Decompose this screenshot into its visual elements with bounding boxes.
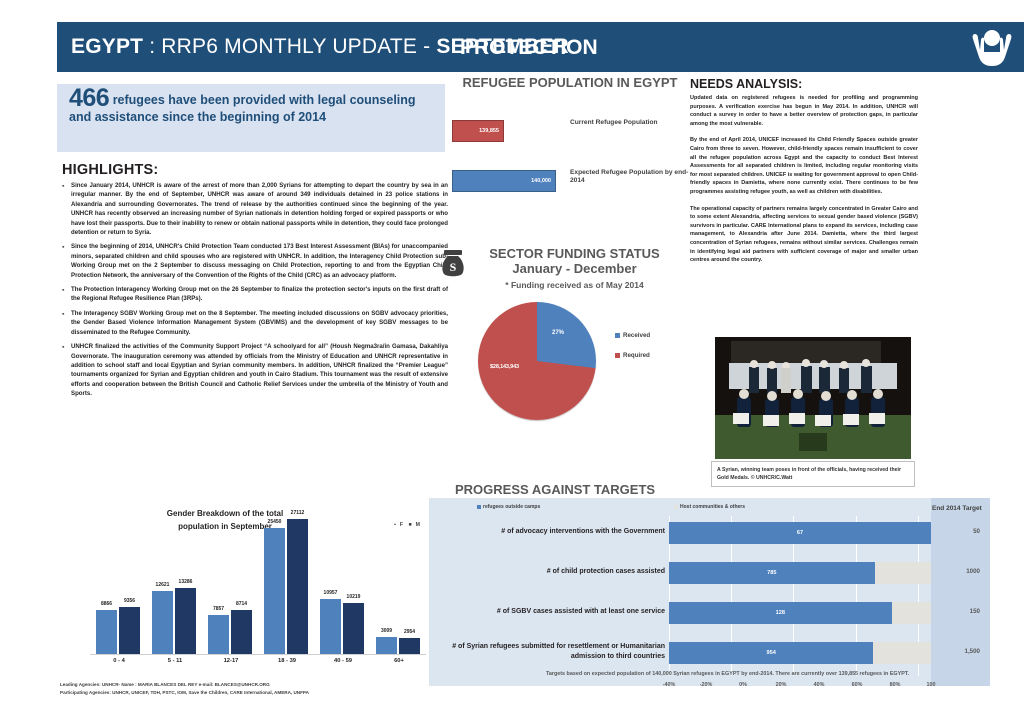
xaxis-tick: 0%	[739, 682, 747, 688]
legend-swatch-required	[615, 353, 620, 358]
row-value-label: 128	[776, 610, 785, 616]
bar-group-5-11: 12621 13286	[152, 514, 196, 654]
row-label: # of advocacy interventions with the Gov…	[437, 527, 665, 537]
bar-male: 2954	[399, 638, 420, 654]
award-ceremony-photo	[715, 337, 911, 459]
legend-swatch-host	[674, 505, 678, 509]
xaxis-tick: 20%	[776, 682, 787, 688]
legend-item-host: Host communities & others	[674, 504, 745, 510]
list-item: ▪ The Protection Interagency Working Gro…	[62, 285, 448, 304]
legend-item-required: Required	[615, 352, 650, 359]
bar-value-label: 7857	[213, 606, 224, 612]
highlights-list: ▪ Since January 2014, UNHCR is aware of …	[62, 181, 448, 404]
pie-slice-label-received: 27%	[552, 330, 564, 336]
bullet-icon: ▪	[62, 285, 71, 304]
highlight-text: Since the beginning of 2014, UNHCR's Chi…	[71, 242, 448, 280]
bullet-icon: ▪	[62, 309, 71, 337]
row-target-value: 150	[970, 608, 980, 615]
list-item: ▪ The Interagency SGBV Working Group met…	[62, 309, 448, 337]
bar-category-label: Expected Refugee Population by end-2014	[570, 169, 690, 186]
key-figure-number: 466	[69, 84, 109, 112]
bar-value-label: 12621	[156, 582, 170, 588]
xaxis-label: 5 - 11	[152, 658, 198, 664]
bar-female: 25450	[264, 528, 285, 654]
row-label: # of Syrian refugees submitted for reset…	[437, 642, 665, 662]
xaxis-tick: -40%	[663, 682, 676, 688]
sector-funding-title: SECTOR FUNDING STATUS January - December…	[452, 246, 697, 293]
photo-caption: A Syrian, winning team poses in front of…	[711, 461, 915, 487]
bar-value-label: 8714	[236, 601, 247, 607]
row-value-label: 67	[797, 530, 803, 536]
xaxis-tick: 60%	[852, 682, 863, 688]
population-row-current: 139,855 Current Refugee Population	[452, 120, 692, 146]
bar-male: 27112	[287, 519, 308, 654]
bar-value-label: 9356	[124, 598, 135, 604]
progress-xaxis: -40% -20% 0% 20% 40% 60% 80% 100	[669, 682, 931, 692]
xaxis-tick: 100	[927, 682, 936, 688]
bar-value-label: 25450	[268, 519, 282, 525]
footer-participating-agencies: Participating Agencies: UNHCR, UNICEF, T…	[60, 689, 480, 697]
legend-item-received: Received	[615, 332, 650, 339]
key-figure-caption: refugees have been provided with legal c…	[69, 93, 416, 124]
xaxis-label: 18 - 39	[264, 658, 310, 664]
bar-value-label: 139,855	[479, 128, 499, 134]
row-target-value: 50	[973, 528, 980, 535]
bar-female: 3009	[376, 637, 397, 654]
bullet-icon: ▪	[62, 242, 71, 280]
legend-swatch-refugees	[477, 505, 481, 509]
progress-targets-title: PROGRESS AGAINST TARGETS	[455, 482, 655, 497]
refugee-population-title: REFUGEE POPULATION IN EGYPT	[455, 75, 685, 90]
row-label: # of child protection cases assisted	[437, 567, 665, 577]
bar-value-label: 13286	[179, 579, 193, 585]
row-track: 785	[669, 562, 931, 584]
bar-male: 8714	[231, 610, 252, 654]
xaxis-label: 40 - 59	[320, 658, 366, 664]
needs-paragraph: Updated data on registered refugees is n…	[690, 94, 918, 128]
needs-paragraph: The operational capacity of partners rem…	[690, 205, 918, 265]
table-row: # of SGBV cases assisted with at least o…	[429, 598, 990, 638]
header-sector: PROTECTION	[460, 36, 598, 60]
row-value-label: 954	[767, 650, 776, 656]
header-separator: :	[143, 35, 161, 58]
bar-female: 12621	[152, 591, 173, 654]
bar-male: 10219	[343, 603, 364, 654]
page-header: EGYPT : RRP6 MONTHLY UPDATE - SEPTEMBER …	[57, 22, 1024, 72]
key-figure-panel: 466 refugees have been provided with leg…	[57, 84, 445, 152]
highlight-text: The Interagency SGBV Working Group met o…	[71, 309, 448, 337]
bar-value-label: 8866	[101, 601, 112, 607]
xaxis-tick: 80%	[890, 682, 901, 688]
highlights-title: HIGHLIGHTS:	[62, 162, 158, 178]
highlight-text: UNHCR finalized the activities of the Co…	[71, 342, 448, 398]
funding-pie-chart: 27% $28,143,943	[478, 302, 600, 424]
legend-label-refugees: refugees outside camps	[483, 504, 540, 510]
pie-graphic	[478, 302, 596, 420]
bar-female: 7857	[208, 615, 229, 654]
bar-group-12-17: 7857 8714	[208, 514, 252, 654]
row-track: 67	[669, 522, 931, 544]
gender-chart-plot: 8866 9356 12621 13286 7857 8714 25450 27…	[90, 514, 426, 655]
funding-subtitle-text: January - December	[512, 261, 636, 276]
bullet-icon: ▪	[62, 181, 71, 237]
row-label: # of SGBV cases assisted with at least o…	[437, 607, 665, 617]
bar-male: 13286	[175, 588, 196, 654]
xaxis-tick: -20%	[700, 682, 713, 688]
legend-item-refugees: refugees outside camps	[477, 504, 540, 510]
xaxis-label: 12-17	[208, 658, 254, 664]
progress-legend: refugees outside camps Host communities …	[429, 504, 931, 514]
header-country: EGYPT	[71, 35, 143, 58]
bar-value-label: 10219	[347, 594, 361, 600]
bar-value-label: 3009	[381, 628, 392, 634]
bar-group-0-4: 8866 9356	[96, 514, 140, 654]
bar-category-label: Current Refugee Population	[570, 119, 690, 127]
footer: Leading Agencies: UNHCR- Name : MARIA BL…	[60, 681, 480, 697]
bar-group-18-39: 25450 27112	[264, 514, 308, 654]
row-fill: 785	[669, 562, 875, 584]
bar-value-label: 27112	[291, 510, 305, 516]
xaxis-label: 60+	[376, 658, 422, 664]
gender-breakdown-chart: Gender Breakdown of the total population…	[64, 500, 434, 678]
bar-group-60plus: 3009 2954	[376, 514, 420, 654]
row-track: 128	[669, 602, 931, 624]
needs-analysis-body: Updated data on registered refugees is n…	[690, 94, 918, 273]
pie-legend: Received Required	[615, 332, 650, 372]
target-column-header: End 2014 Target	[932, 504, 982, 513]
needs-analysis-title: NEEDS ANALYSIS:	[690, 77, 802, 91]
highlight-text: The Protection Interagency Working Group…	[71, 285, 448, 304]
highlight-text: Since January 2014, UNHCR is aware of th…	[71, 181, 448, 237]
legend-label-required: Required	[623, 352, 650, 359]
bullet-icon: ▪	[62, 342, 71, 398]
table-row: # of advocacy interventions with the Gov…	[429, 518, 990, 558]
row-fill: 67	[669, 522, 931, 544]
row-value-label: 785	[767, 570, 776, 576]
bar-current-population: 139,855	[452, 120, 504, 142]
legend-label-host: Host communities & others	[680, 504, 745, 510]
bar-male: 9356	[119, 607, 140, 654]
progress-targets-note: Targets based on expected population of …	[455, 671, 1000, 677]
bar-female: 10957	[320, 599, 341, 654]
gender-chart-xaxis: 0 - 4 5 - 11 12-17 18 - 39 40 - 59 60+	[90, 658, 426, 670]
header-report: RRP6 MONTHLY UPDATE -	[161, 35, 436, 58]
bar-value-label: 10957	[324, 590, 338, 596]
population-row-expected: 140,000 Expected Refugee Population by e…	[452, 170, 692, 196]
legend-label-received: Received	[623, 332, 650, 339]
row-track: 954	[669, 642, 931, 664]
photo-graphic	[715, 337, 911, 459]
progress-rows: # of advocacy interventions with the Gov…	[429, 518, 990, 678]
bar-expected-population: 140,000	[452, 170, 556, 192]
needs-paragraph: By the end of April 2014, UNICEF increas…	[690, 136, 918, 196]
progress-targets-panel: End 2014 Target refugees outside camps H…	[429, 498, 990, 686]
row-target-value: 1000	[966, 568, 980, 575]
row-fill: 954	[669, 642, 873, 664]
footer-leading-agencies: Leading Agencies: UNHCR- Name : MARIA BL…	[60, 681, 480, 689]
xaxis-tick: 40%	[814, 682, 825, 688]
key-figure-text: 466 refugees have been provided with leg…	[57, 84, 445, 126]
xaxis-label: 0 - 4	[96, 658, 142, 664]
list-item: ▪ Since the beginning of 2014, UNHCR's C…	[62, 242, 448, 280]
list-item: ▪ Since January 2014, UNHCR is aware of …	[62, 181, 448, 237]
refugee-population-chart: 139,855 Current Refugee Population 140,0…	[452, 120, 692, 202]
unhcr-hands-logo-icon	[970, 26, 1014, 68]
infographic-page: EGYPT : RRP6 MONTHLY UPDATE - SEPTEMBER …	[0, 0, 1024, 724]
funding-title-text: SECTOR FUNDING STATUS	[489, 246, 659, 261]
bar-group-40-59: 10957 10219	[320, 514, 364, 654]
bar-value-label: 140,000	[531, 178, 551, 184]
pie-slice-label-required: $28,143,943	[490, 364, 519, 370]
funding-note-text: * Funding received as of May 2014	[452, 278, 697, 293]
bar-female: 8866	[96, 610, 117, 654]
row-fill: 128	[669, 602, 892, 624]
legend-swatch-received	[615, 333, 620, 338]
table-row: # of child protection cases assisted 785…	[429, 558, 990, 598]
list-item: ▪ UNHCR finalized the activities of the …	[62, 342, 448, 398]
row-target-value: 1,500	[965, 648, 980, 655]
bar-value-label: 2954	[404, 629, 415, 635]
